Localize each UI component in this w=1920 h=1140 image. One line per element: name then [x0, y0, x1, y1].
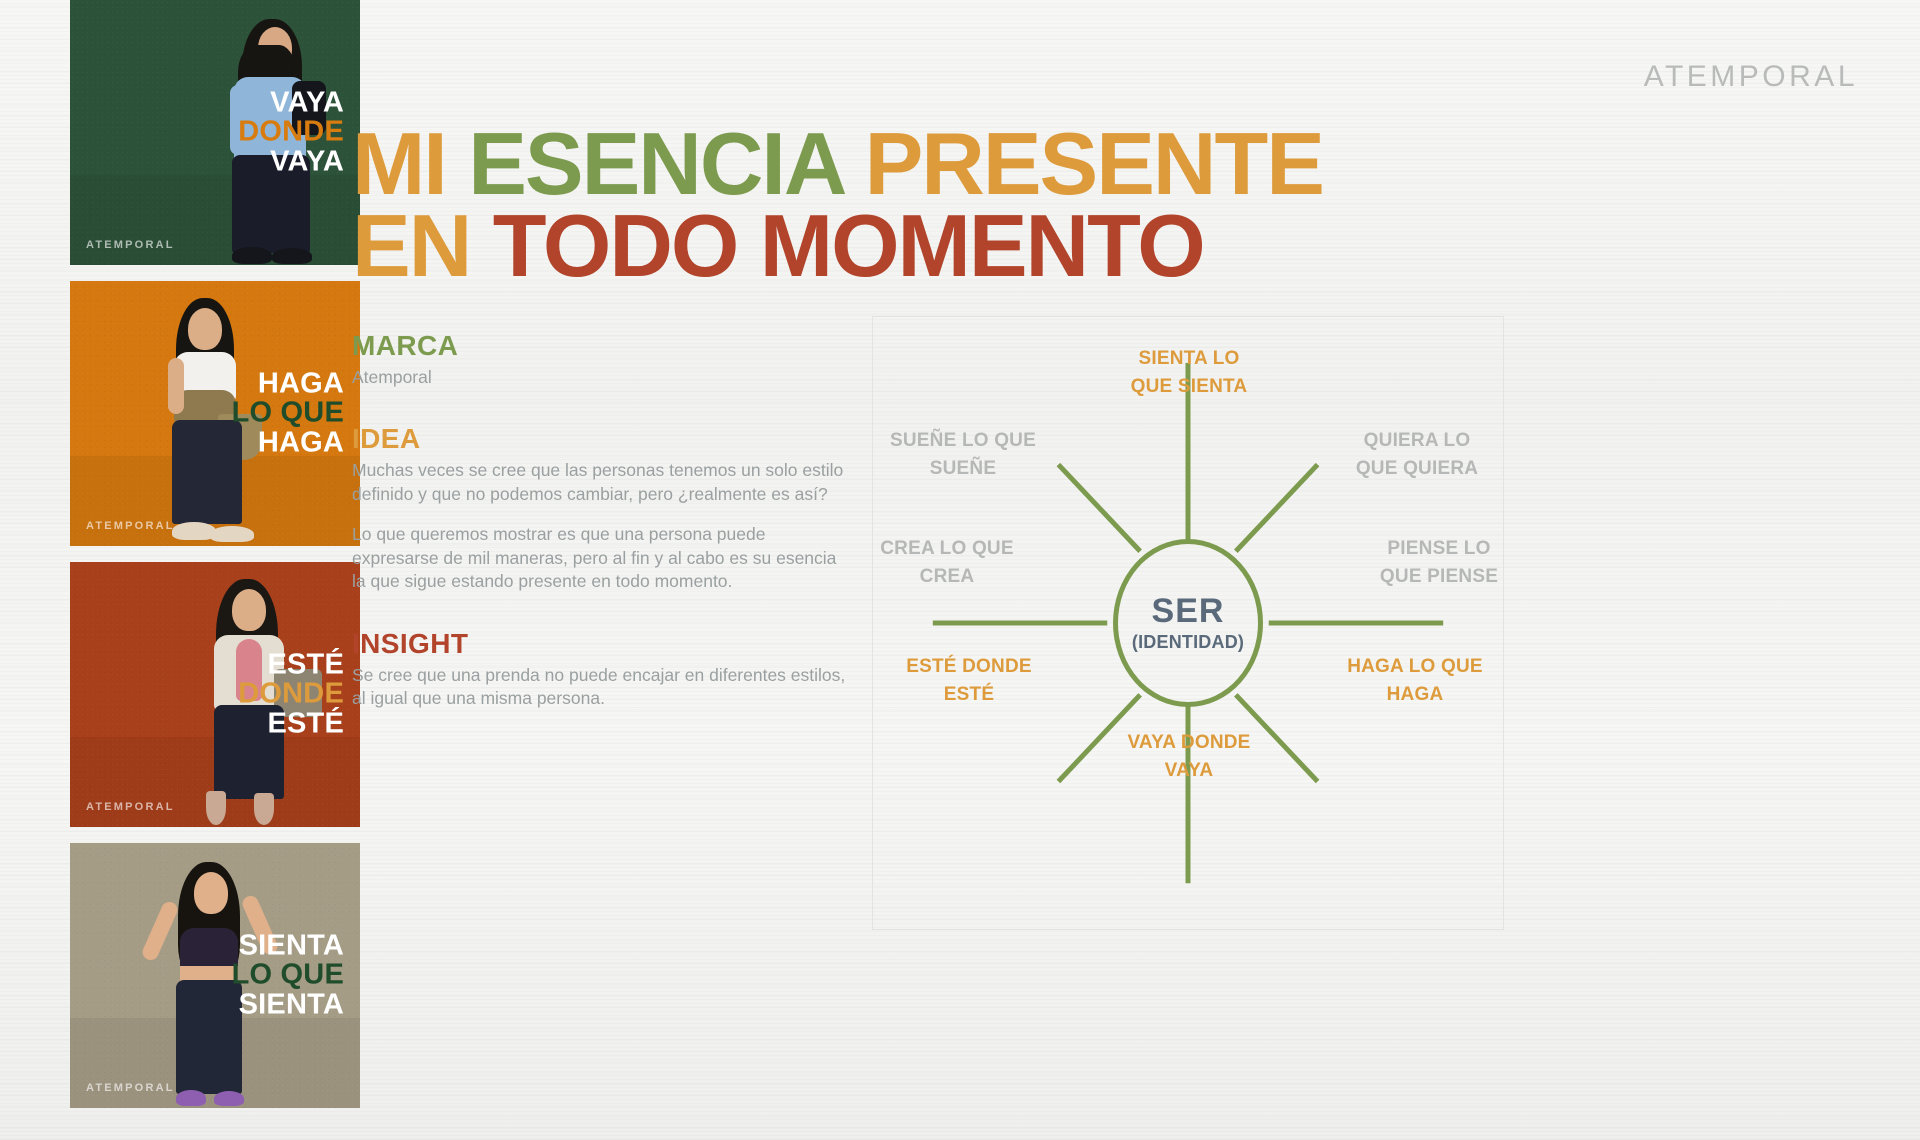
copy-section-marca: MARCAAtemporal — [352, 330, 852, 389]
slogan-line: SIENTA — [232, 990, 344, 1020]
thumbnail-slogan: HAGALO QUEHAGA — [232, 369, 344, 458]
copy-column: MARCAAtemporalIDEAMuchas veces se cree q… — [352, 330, 852, 711]
slogan-line: VAYA — [238, 88, 344, 118]
section-paragraph: Atemporal — [352, 366, 852, 389]
node-line-2: HAGA — [1315, 681, 1515, 709]
node-line-1: HAGA LO QUE — [1315, 653, 1515, 681]
node-line-2: VAYA — [1089, 757, 1289, 785]
thumbnail-caption: ATEMPORAL — [86, 520, 175, 532]
node-line-1: VAYA DONDE — [1089, 729, 1289, 757]
brand-wordmark: ATEMPORAL — [1644, 60, 1858, 94]
slogan-line: HAGA — [232, 369, 344, 399]
center-subtitle: (IDENTIDAD) — [1132, 632, 1244, 653]
diagram-node-haga: HAGA LO QUEHAGA — [1315, 653, 1515, 708]
slide-canvas: VAYADONDEVAYAATEMPORALHAGALO QUEHAGAATEM… — [0, 0, 1920, 1140]
diagram-node-quiera: QUIERA LOQUE QUIERA — [1317, 427, 1517, 482]
slogan-line: HAGA — [232, 428, 344, 458]
section-paragraph: Se cree que una prenda no puede encajar … — [352, 664, 852, 711]
slogan-line: VAYA — [238, 147, 344, 177]
title-word: TODO MOMENTO — [493, 196, 1204, 295]
node-line-2: SUEÑE — [863, 455, 1063, 483]
node-line-1: SIENTA LO — [1089, 345, 1289, 373]
campaign-thumbnail[interactable]: VAYADONDEVAYAATEMPORAL — [70, 0, 360, 265]
diagram-node-crea: CREA LO QUECREA — [847, 535, 1047, 590]
slogan-line: DONDE — [238, 680, 344, 710]
title-line-1: MI ESENCIA PRESENTE — [352, 126, 1352, 202]
node-line-1: PIENSE LO — [1339, 535, 1539, 563]
thumbnail-caption: ATEMPORAL — [86, 801, 175, 813]
page-title: MI ESENCIA PRESENTE EN TODO MOMENTO — [352, 126, 1352, 283]
diagram-node-vaya: VAYA DONDEVAYA — [1089, 729, 1289, 784]
slogan-line: LO QUE — [232, 399, 344, 429]
thumbnail-caption: ATEMPORAL — [86, 239, 175, 251]
diagram-center-node: SER (IDENTIDAD) — [1113, 539, 1263, 707]
diagram-node-sienta: SIENTA LOQUE SIENTA — [1089, 345, 1289, 400]
node-line-1: CREA LO QUE — [847, 535, 1047, 563]
section-heading: MARCA — [352, 330, 852, 362]
campaign-thumbnail[interactable]: HAGALO QUEHAGAATEMPORAL — [70, 281, 360, 546]
node-line-2: QUE QUIERA — [1317, 455, 1517, 483]
slogan-line: ESTÉ — [238, 709, 344, 739]
node-line-2: QUE PIENSE — [1339, 563, 1539, 591]
campaign-thumbnail[interactable]: ESTÉDONDEESTÉATEMPORAL — [70, 562, 360, 827]
slogan-line: ESTÉ — [238, 650, 344, 680]
copy-section-insight: INSIGHTSe cree que una prenda no puede e… — [352, 628, 852, 711]
slogan-line: DONDE — [238, 118, 344, 148]
campaign-thumbnail-strip: VAYADONDEVAYAATEMPORALHAGALO QUEHAGAATEM… — [70, 0, 360, 1140]
node-line-2: QUE SIENTA — [1089, 373, 1289, 401]
node-line-2: CREA — [847, 563, 1047, 591]
thumbnail-slogan: SIENTALO QUESIENTA — [232, 931, 344, 1020]
node-line-1: ESTÉ DONDE — [869, 653, 1069, 681]
copy-section-idea: IDEAMuchas veces se cree que las persona… — [352, 423, 852, 593]
diagram-node-suene: SUEÑE LO QUESUEÑE — [863, 427, 1063, 482]
diagram-node-este: ESTÉ DONDEESTÉ — [869, 653, 1069, 708]
identity-diagram-panel: SER (IDENTIDAD) SIENTA LOQUE SIENTAQUIER… — [872, 316, 1504, 930]
section-heading: IDEA — [352, 423, 852, 455]
diagram-node-piense: PIENSE LOQUE PIENSE — [1339, 535, 1539, 590]
slogan-line: LO QUE — [232, 961, 344, 991]
thumbnail-slogan: ESTÉDONDEESTÉ — [238, 650, 344, 739]
section-paragraph: Lo que queremos mostrar es que una perso… — [352, 523, 852, 593]
node-line-1: SUEÑE LO QUE — [863, 427, 1063, 455]
campaign-thumbnail[interactable]: SIENTALO QUESIENTAATEMPORAL — [70, 843, 360, 1108]
thumbnail-slogan: VAYADONDEVAYA — [238, 88, 344, 177]
section-heading: INSIGHT — [352, 628, 852, 660]
title-line-2: EN TODO MOMENTO — [352, 208, 1352, 284]
slogan-line: SIENTA — [232, 931, 344, 961]
node-line-2: ESTÉ — [869, 681, 1069, 709]
node-line-1: QUIERA LO — [1317, 427, 1517, 455]
center-title: SER — [1152, 594, 1225, 628]
section-paragraph: Muchas veces se cree que las personas te… — [352, 459, 852, 506]
title-word: EN — [352, 196, 493, 295]
thumbnail-caption: ATEMPORAL — [86, 1082, 175, 1094]
